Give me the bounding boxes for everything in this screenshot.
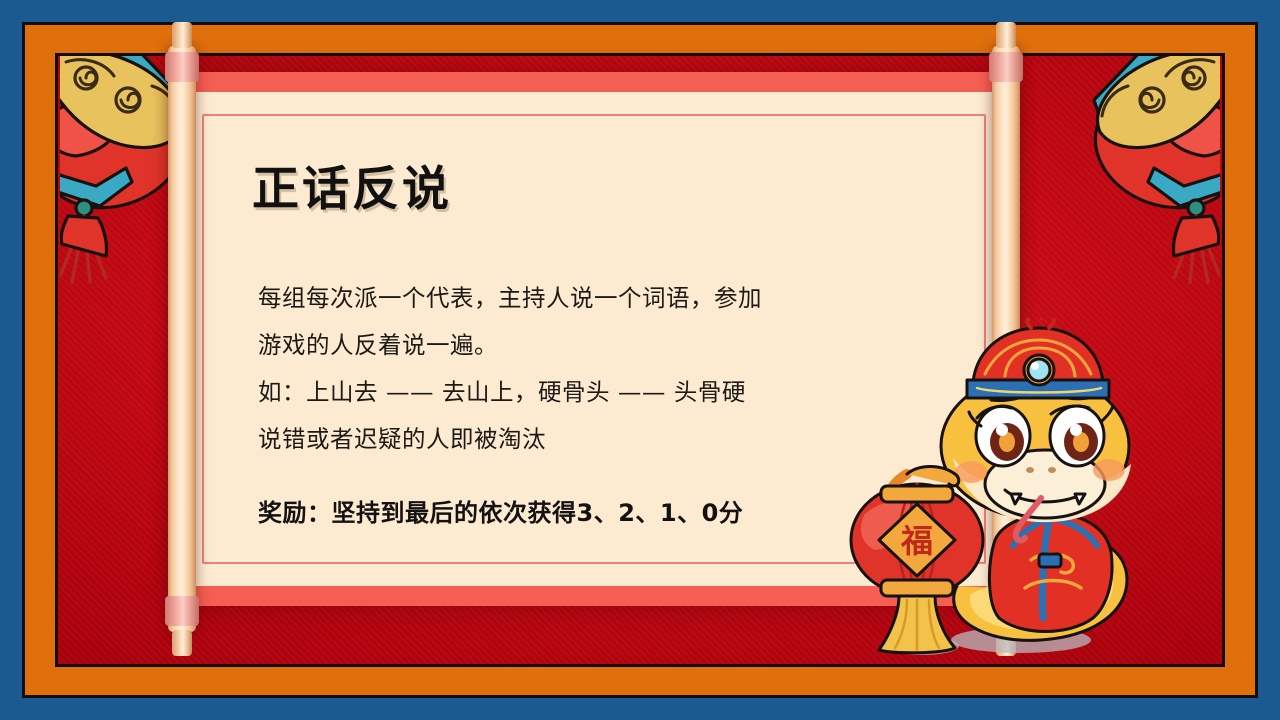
reward-line: 奖励：坚持到最后的依次获得3、2、1、0分 xyxy=(258,493,896,528)
scroll-roller-left-icon xyxy=(168,46,196,632)
page-title: 正话反说 xyxy=(252,150,896,219)
roller-knob-bottom xyxy=(172,630,192,656)
rules-line: 说错或者迟疑的人即被淘汰 xyxy=(258,416,896,463)
roller-cap-bottom xyxy=(165,596,199,626)
rules-text-block: 每组每次派一个代表，主持人说一个词语，参加 游戏的人反着说一遍。 如：上山去 —… xyxy=(258,275,896,528)
rules-line: 如：上山去 —— 去山上，硬骨头 —— 头骨硬 xyxy=(258,369,896,416)
rules-line: 游戏的人反着说一遍。 xyxy=(258,322,896,369)
roller-cap-top xyxy=(989,52,1023,82)
snake-mascot-icon: 福 xyxy=(845,318,1145,663)
roller-cap-top xyxy=(165,52,199,82)
roller-knob-top xyxy=(172,22,192,48)
lantern-fu-char: 福 xyxy=(900,522,933,560)
slide-content: 正话反说 每组每次派一个代表，主持人说一个词语，参加 游戏的人反着说一遍。 如：… xyxy=(196,150,896,528)
rules-line: 每组每次派一个代表，主持人说一个词语，参加 xyxy=(258,275,896,322)
paper-band-top xyxy=(180,72,1008,92)
roller-knob-top xyxy=(996,22,1016,48)
slide-root: 正话反说 每组每次派一个代表，主持人说一个词语，参加 游戏的人反着说一遍。 如：… xyxy=(0,0,1280,720)
